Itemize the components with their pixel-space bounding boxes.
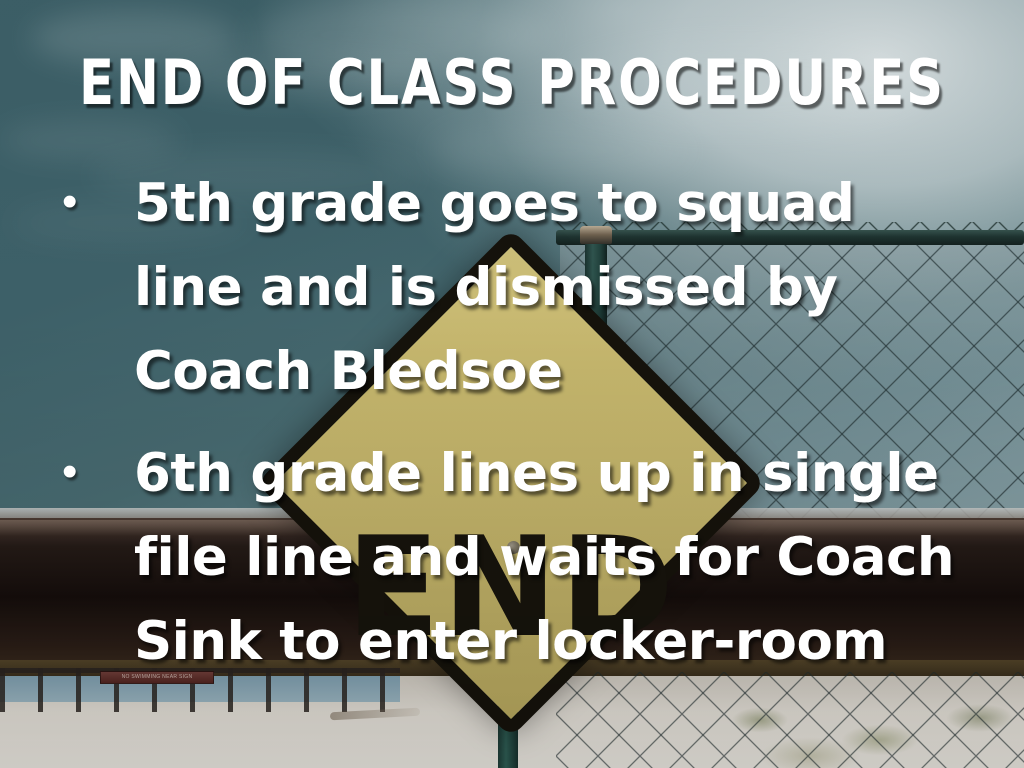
bullet-line: Coach Bledsoe: [134, 330, 980, 414]
bullet-6th-grade: • 6th grade lines up in single file line…: [50, 432, 980, 684]
bullet-line: 6th grade lines up in single: [134, 432, 980, 516]
page-title: END OF CLASS PROCEDURES: [41, 48, 983, 118]
bullet-line: line and is dismissed by: [134, 246, 980, 330]
bullet-list: • 5th grade goes to squad line and is di…: [50, 162, 980, 702]
bullet-line: file line and waits for Coach: [134, 516, 980, 600]
slide-canvas: NO SWIMMING NEAR SIGN END END OF CLASS P…: [0, 0, 1024, 768]
slide-content: END OF CLASS PROCEDURES • 5th grade goes…: [0, 0, 1024, 768]
bullet-5th-grade: • 5th grade goes to squad line and is di…: [50, 162, 980, 414]
bullet-6th-grade-text: 6th grade lines up in single file line a…: [134, 432, 980, 684]
bullet-marker: •: [50, 432, 134, 512]
bullet-line: 5th grade goes to squad: [134, 162, 980, 246]
bullet-5th-grade-text: 5th grade goes to squad line and is dism…: [134, 162, 980, 414]
bullet-marker: •: [50, 162, 134, 242]
bullet-line: Sink to enter locker-room: [134, 600, 980, 684]
